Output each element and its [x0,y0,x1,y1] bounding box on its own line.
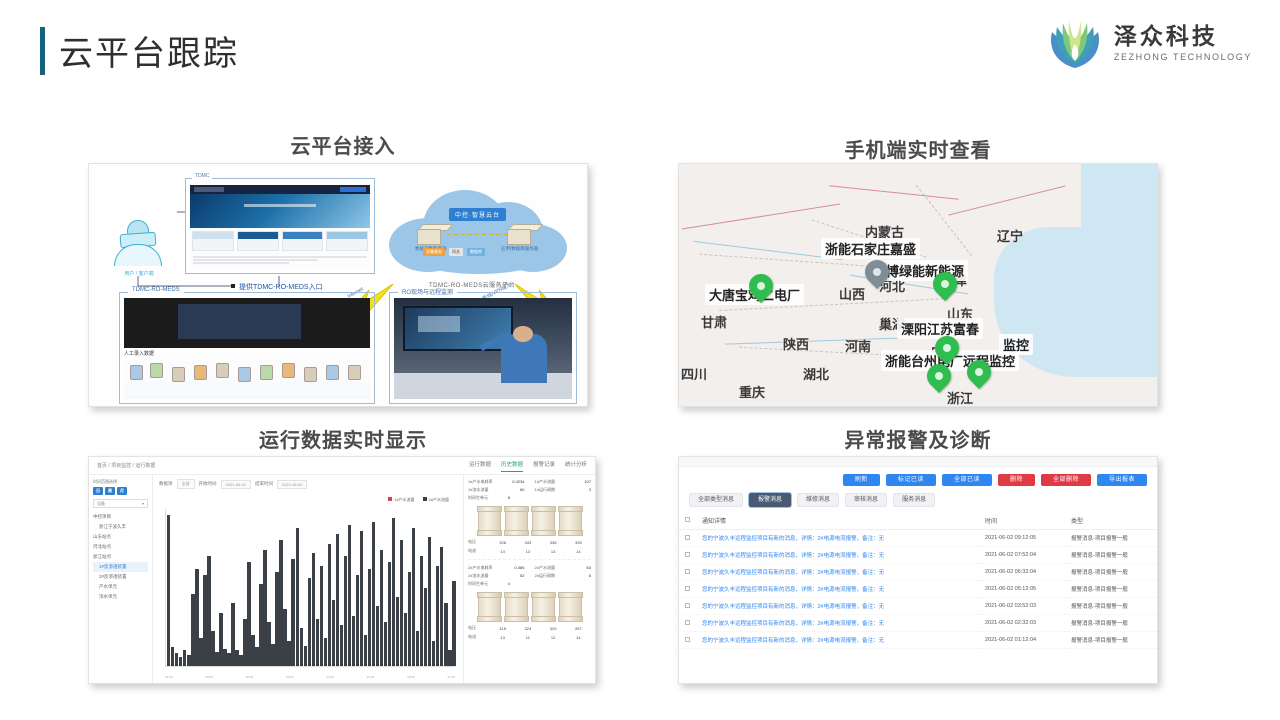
row-type: 报警消息-项目报警一般 [1065,564,1157,581]
vessel-icon [532,506,555,536]
slide-root: 云平台跟踪 泽众科技 ZEZHONG TECHNOLOGY 云平台接入 手机端实… [0,0,1280,720]
section-title-running-data: 运行数据实时显示 [88,424,598,453]
row-checkbox-cell[interactable] [679,530,696,547]
map-pin-taizhou[interactable] [967,360,991,392]
chart-filters[interactable]: 数据项 全部 开始时间 2021-06-01 结束时间 2021-06-02 [159,479,457,489]
badge-0: 采集服务 [423,248,445,256]
table-row[interactable]: 您的宁波久丰远程监控项目有新的消息，详情：2#电源电流报警，备注：无 2021-… [679,598,1157,615]
tree-item-1[interactable]: 浙江宁波久丰 [93,522,148,532]
cloud-badges: 采集服务 网关 数据库 [423,248,485,256]
sea-northeast [1081,164,1157,246]
tree-item-3[interactable]: 河北站点 [93,542,148,552]
select-all-checkbox-cell[interactable] [679,512,696,530]
vessel-icon [505,506,528,536]
vessel-icon [532,592,555,622]
row-checkbox[interactable] [685,637,690,642]
tree-item-5[interactable]: 1#反渗透装置 [93,562,148,572]
tree-item-4[interactable]: 浙江站点 [93,552,148,562]
row-detail[interactable]: 您的宁波久丰远程监控项目有新的消息，详情：2#电源电流报警，备注：无 [696,564,979,581]
running-data-panel[interactable]: 首页 / 项目监控 / 运行数据 运行数据 历史数据 报警记录 统计分析 时间范… [88,456,596,684]
metric-0-1: 1#产水流量107 [535,479,592,485]
row-type: 报警消息-项目报警一般 [1065,547,1157,564]
alarm-table[interactable]: 通知详情 时间 类型 您的宁波久丰远程监控项目有新的消息，详情：2#电源电流报警… [679,512,1157,649]
row-checkbox-cell[interactable] [679,598,696,615]
tab-alarm-record[interactable]: 报警记录 [533,460,555,472]
process-flow-diagram [124,357,370,399]
metric-0-4: 时间生单元8 [468,495,510,501]
server2-label: 应用/数据库服务器 [501,246,538,252]
xtick-3: 09:00 [286,675,294,679]
badge-2: 数据库 [467,248,485,256]
vessel-icon [559,592,582,622]
xtick-0: 00:00 [165,675,173,679]
vessel-row-2 [468,592,591,622]
row-type: 报警消息-项目报警一般 [1065,615,1157,632]
province-label-liaoning: 辽宁 [997,226,1023,245]
tree-item-2[interactable]: 山东站点 [93,532,148,542]
onsite-system-box: TDMC-RO-MEDS 人工录入数据 [119,292,375,404]
device-tree-sidebar[interactable]: 时间范围选择 日 周 月 设备 ▾ 中控项目 浙江宁波久丰 山东站点 河北 [89,475,153,683]
province-label-shanxi: 山西 [839,284,865,303]
tab-maintenance-messages[interactable]: 维修消息 [797,493,839,507]
metric-1-3: 2#运行周期6 [535,573,592,579]
badge-1: 网关 [449,248,463,256]
row-detail[interactable]: 您的宁波久丰远程监控项目有新的消息，详情：2#电源电流报警，备注：无 [696,547,979,564]
map-pin-inactive[interactable] [865,260,889,292]
metric-1-2: 2#浓水流量52 [468,573,525,579]
box-left-tag: TDMC-RO-MEDS [128,287,184,293]
chart-x-axis: 00:00 03:00 06:00 09:00 12:00 15:00 18:0… [165,675,455,679]
site-label-shijiazhuang[interactable]: 浙能石家庄嘉盛 [821,238,920,259]
metric-0-3: 1#运行周期3 [535,487,592,493]
scada-label: 人工录入数据 [124,350,154,357]
china-map[interactable]: 内蒙古 辽宁 河北 天津 山西 山东 甘肃 陕西 河南 湖北 重庆 四川 巢湖 … [679,164,1157,406]
running-data-header: 首页 / 项目监控 / 运行数据 运行数据 历史数据 报警记录 统计分析 [89,457,595,475]
table-header-row: 通知详情 时间 类型 [679,512,1157,530]
row-detail[interactable]: 您的宁波久丰远程监控项目有新的消息，详情：2#电源电流报警，备注：无 [696,632,979,649]
row-detail[interactable]: 您的宁波久丰远程监控项目有新的消息，详情：2#电源电流报警，备注：无 [696,581,979,598]
xtick-4: 12:00 [326,675,334,679]
chip-month[interactable]: 月 [117,487,127,495]
remote-monitoring-box: RO现场与远程监测 [389,292,577,404]
metric-group-1: 1#产水电耗率0.4234 1#浓水流量60 1#产水流量107 1#运行周期3… [468,479,591,560]
select-all-checkbox[interactable] [685,517,690,522]
alarm-action-buttons[interactable]: 刷新 标记已读 全部已读 删除 全部删除 导出报表 [679,467,1157,490]
cloud-access-diagram-panel: 用户 / 客户端 TDMC 提供TDMC-RO-MEDS入口 [88,163,588,407]
tab-history[interactable]: 历史数据 [501,460,523,472]
metric-1-0: 2#产水电耗率0.086 [468,565,525,571]
cloud-tag-label: 中控·智慧云台 [449,208,506,221]
tab-statistics[interactable]: 统计分析 [565,460,587,472]
xtick-6: 18:00 [407,675,415,679]
row-time: 2021-06-02 07:52:04 [979,547,1065,564]
row-checkbox-cell[interactable] [679,564,696,581]
row-checkbox[interactable] [685,569,690,574]
column-detail: 通知详情 [696,512,979,530]
delete-all-button[interactable]: 全部删除 [1041,474,1091,486]
row-type: 报警消息-项目报警一般 [1065,632,1157,649]
cloud-graphic: 中控·智慧云台 数据采集服务器 应用/数据库服务器 采集服务 网关 数据库 TD… [389,184,567,276]
xtick-5: 15:00 [367,675,375,679]
row-type: 报警消息-项目报警一般 [1065,598,1157,615]
mobile-map-panel[interactable]: 内蒙古 辽宁 河北 天津 山西 山东 甘肃 陕西 河南 湖北 重庆 四川 巢湖 … [678,163,1158,407]
device-select[interactable]: 设备 ▾ [93,499,148,508]
row-time: 2021-06-02 09:12:05 [979,530,1065,547]
filter-value-1[interactable]: 2021-06-01 [221,480,251,489]
filter-label-2: 结束时间 [255,481,273,487]
chip-week[interactable]: 周 [105,487,115,495]
running-data-tabs[interactable]: 运行数据 历史数据 报警记录 统计分析 [469,460,587,472]
alarm-table-panel[interactable]: 刷新 标记已读 全部已读 删除 全部删除 导出报表 全部类型消息 报警消息 维修… [678,456,1158,684]
metric-group-2: 2#产水电耗率0.086 2#浓水流量52 2#产水流量63 2#运行周期6 时… [468,565,591,640]
chips-label: 时间范围选择 [93,479,148,485]
row-type: 报警消息-项目报警一般 [1065,530,1157,547]
export-report-button[interactable]: 导出报表 [1097,474,1147,486]
chip-day[interactable]: 日 [93,487,103,495]
row-time: 2021-06-02 02:32:03 [979,615,1065,632]
site-label-monitor[interactable]: 监控 [999,334,1033,355]
map-pin-zibo[interactable] [933,272,957,304]
vessel-icon [559,506,582,536]
breadcrumb: 首页 / 项目监控 / 运行数据 [97,462,155,469]
legend-item-0: 1#产水流量 [388,497,414,503]
row-time: 2021-06-02 01:12:04 [979,632,1065,649]
page-title: 云平台跟踪 [40,26,239,75]
filter-label-1: 开始时间 [199,481,217,487]
xtick-7: 21:00 [447,675,455,679]
chevron-down-icon: ▾ [142,501,144,506]
row-time: 2021-06-02 06:32:04 [979,564,1065,581]
tab-alarm-messages[interactable]: 报警消息 [749,493,791,507]
mark-all-read-button[interactable]: 全部已读 [942,474,992,486]
chart-area: 数据项 全部 开始时间 2021-06-01 结束时间 2021-06-02 1… [153,475,463,683]
time-range-chips[interactable]: 日 周 月 [93,487,148,495]
vessel-icon [505,592,528,622]
row-detail[interactable]: 您的宁波久丰远程监控项目有新的消息，详情：2#电源电流报警，备注：无 [696,615,979,632]
map-pin-ningbo[interactable] [927,364,951,396]
title-accent-bar [40,27,45,75]
control-room-photo [394,298,572,399]
scada-screen [124,298,370,348]
table-row[interactable]: 您的宁波久丰远程监控项目有新的消息，详情：2#电源电流报警，备注：无 2021-… [679,530,1157,547]
table-row[interactable]: 您的宁波久丰远程监控项目有新的消息，详情：2#电源电流报警，备注：无 2021-… [679,564,1157,581]
xtick-1: 03:00 [205,675,213,679]
current-row-2: 电流 13 11 12 14 [468,634,591,640]
row-type: 报警消息-项目报警一般 [1065,581,1157,598]
table-row[interactable]: 您的宁波久丰远程监控项目有新的消息，详情：2#电源电流报警，备注：无 2021-… [679,581,1157,598]
row-checkbox-cell[interactable] [679,547,696,564]
legend-item-1: 2#产水流量 [423,497,449,503]
metric-0-0: 1#产水电耗率0.4234 [468,479,525,485]
column-time: 时间 [979,512,1065,530]
section-title-alarm-diagnosis: 异常报警及诊断 [678,424,1158,453]
tab-service-messages[interactable]: 服务消息 [893,493,935,507]
tab-all-messages[interactable]: 全部类型消息 [689,493,743,507]
voltage-row-1: 电压 326 343 336 335 [468,539,591,545]
row-checkbox-cell[interactable] [679,632,696,649]
map-pin-baoji[interactable] [749,274,773,306]
tab-running[interactable]: 运行数据 [469,460,491,472]
metric-1-1: 2#产水流量63 [535,565,592,571]
vessel-icon [478,592,501,622]
row-time: 2021-06-02 03:52:03 [979,598,1065,615]
row-checkbox-cell[interactable] [679,615,696,632]
row-time: 2021-06-02 05:12:05 [979,581,1065,598]
tree-item-8[interactable]: 浓水单元 [93,592,148,602]
filter-value-0[interactable]: 全部 [177,479,195,489]
voltage-row-2: 电压 315 324 329 267 [468,625,591,631]
row-checkbox[interactable] [685,586,690,591]
refresh-button[interactable]: 刷新 [843,474,880,486]
chart-legend: 1#产水流量 2#产水流量 [388,497,449,503]
province-label-shaanxi: 陕西 [783,334,809,353]
lotus-icon [1046,14,1104,72]
alarm-toolbar-strip [679,457,1157,467]
title-text: 云平台跟踪 [59,26,239,75]
history-bar-chart[interactable] [165,509,455,667]
section-title-cloud-access: 云平台接入 [88,130,598,159]
row-checkbox[interactable] [685,552,690,557]
alarm-type-tabs[interactable]: 全部类型消息 报警消息 维修消息 审核消息 服务消息 [679,490,1157,512]
tab-audit-messages[interactable]: 审核消息 [845,493,887,507]
brand-name-en: ZEZHONG TECHNOLOGY [1114,53,1252,62]
metric-1-4: 时间生单元4 [468,581,510,587]
province-label-hubei: 湖北 [803,364,829,383]
province-label-sichuan: 四川 [681,364,707,383]
tree-item-6[interactable]: 2#反渗透装置 [93,572,148,582]
brand-text: 泽众科技 ZEZHONG TECHNOLOGY [1114,25,1252,62]
row-checkbox[interactable] [685,620,690,625]
filter-label-0: 数据项 [159,481,173,487]
brand-logo: 泽众科技 ZEZHONG TECHNOLOGY [1046,14,1252,72]
table-row[interactable]: 您的宁波久丰远程监控项目有新的消息，详情：2#电源电流报警，备注：无 2021-… [679,547,1157,564]
filter-value-2[interactable]: 2021-06-02 [277,480,307,489]
current-row-1: 电流 14 13 13 14 [468,548,591,554]
table-row[interactable]: 您的宁波久丰远程监控项目有新的消息，详情：2#电源电流报警，备注：无 2021-… [679,632,1157,649]
province-label-chongqing: 重庆 [739,382,765,401]
device-select-value: 设备 [97,501,105,507]
row-detail[interactable]: 您的宁波久丰远程监控项目有新的消息，详情：2#电源电流报警，备注：无 [696,530,979,547]
row-checkbox-cell[interactable] [679,581,696,598]
server-icon-collector [417,224,447,246]
column-type: 类型 [1065,512,1157,530]
mark-read-button[interactable]: 标记已读 [886,474,936,486]
vessel-icon [478,506,501,536]
metric-0-2: 1#浓水流量60 [468,487,525,493]
vessel-row-1 [468,506,591,536]
row-checkbox[interactable] [685,603,690,608]
xtick-2: 06:00 [246,675,254,679]
chart-bars [167,509,455,666]
province-label-gansu: 甘肃 [701,312,727,331]
metrics-sidebar: 1#产水电耗率0.4234 1#浓水流量60 1#产水流量107 1#运行周期3… [463,475,595,683]
section-title-mobile-view: 手机端实时查看 [678,134,1158,163]
delete-button[interactable]: 删除 [998,474,1035,486]
server-icon-application [507,224,537,246]
tree-item-0[interactable]: 中控项目 [93,512,148,522]
table-row[interactable]: 您的宁波久丰远程监控项目有新的消息，详情：2#电源电流报警，备注：无 2021-… [679,615,1157,632]
row-detail[interactable]: 您的宁波久丰远程监控项目有新的消息，详情：2#电源电流报警，备注：无 [696,598,979,615]
brand-name-cn: 泽众科技 [1114,25,1252,48]
device-tree[interactable]: 中控项目 浙江宁波久丰 山东站点 河北站点 浙江站点 1#反渗透装置 2#反渗透… [93,512,148,602]
tree-item-7[interactable]: 产水单元 [93,582,148,592]
box-right-tag: RO现场与远程监测 [398,287,457,296]
row-checkbox[interactable] [685,535,690,540]
province-label-henan: 河南 [845,336,871,355]
